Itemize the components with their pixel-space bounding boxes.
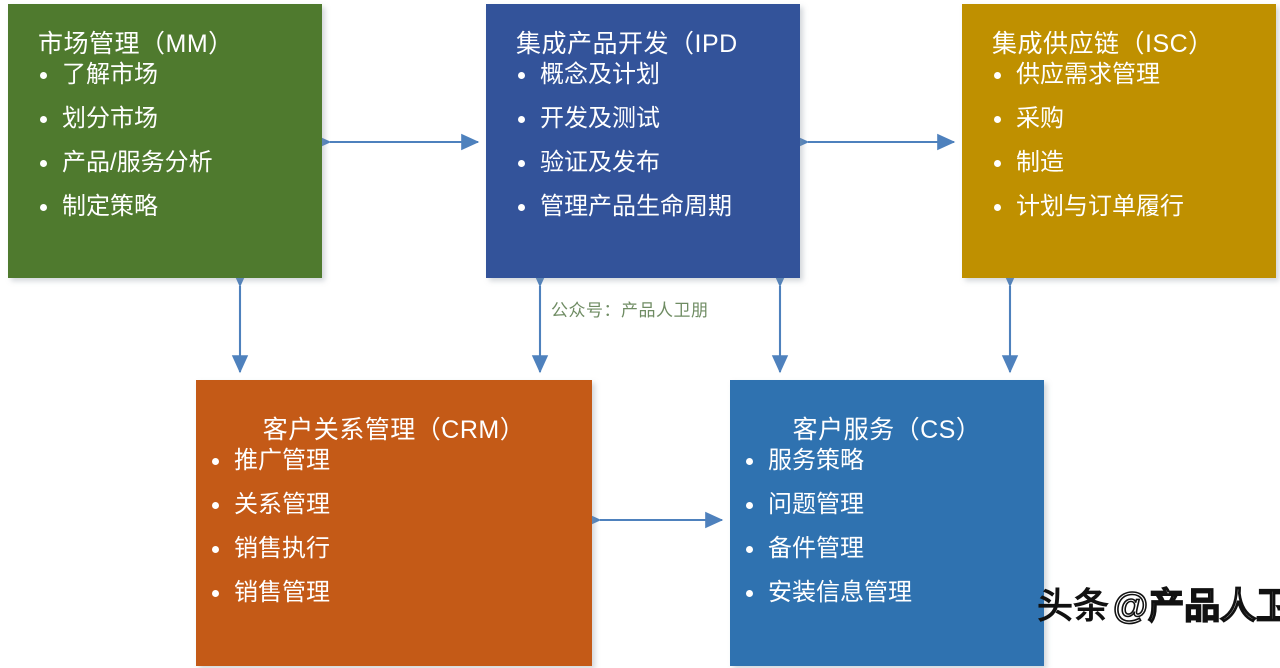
list-item: 问题管理 (740, 493, 1044, 517)
list-item: 服务策略 (740, 449, 1044, 473)
list-item: 产品/服务分析 (34, 151, 322, 175)
list-item: 管理产品生命周期 (512, 195, 800, 219)
watermark-center: 公众号：产品人卫朋 (551, 296, 709, 321)
list-item: 划分市场 (34, 107, 322, 131)
process-box-mm-items: 了解市场 划分市场 产品/服务分析 制定策略 (8, 63, 322, 219)
list-item: 概念及计划 (512, 63, 800, 87)
process-box-ipd-items: 概念及计划 开发及测试 验证及发布 管理产品生命周期 (486, 63, 800, 219)
list-item: 安装信息管理 (740, 581, 1044, 605)
process-box-ipd[interactable]: 集成产品开发（IPD 概念及计划 开发及测试 验证及发布 管理产品生命周期 (486, 4, 800, 278)
diagram-canvas: 市场管理（MM） 了解市场 划分市场 产品/服务分析 制定策略 集成产品开发（I… (0, 0, 1280, 668)
process-box-crm-title: 客户关系管理（CRM） (196, 380, 592, 449)
list-item: 计划与订单履行 (988, 195, 1276, 219)
watermark-platform-label: 头条 (1037, 585, 1109, 626)
process-box-ipd-title: 集成产品开发（IPD (486, 4, 800, 63)
watermark-handle-label: @产品人卫朋 (1113, 585, 1280, 626)
process-box-isc-title: 集成供应链（ISC） (962, 4, 1276, 63)
list-item: 销售执行 (206, 537, 592, 561)
list-item: 制定策略 (34, 195, 322, 219)
list-item: 验证及发布 (512, 151, 800, 175)
list-item: 采购 (988, 107, 1276, 131)
process-box-mm[interactable]: 市场管理（MM） 了解市场 划分市场 产品/服务分析 制定策略 (8, 4, 322, 278)
process-box-cs[interactable]: 客户服务（CS） 服务策略 问题管理 备件管理 安装信息管理 (730, 380, 1044, 666)
process-box-cs-title: 客户服务（CS） (730, 380, 1044, 449)
process-box-isc[interactable]: 集成供应链（ISC） 供应需求管理 采购 制造 计划与订单履行 (962, 4, 1276, 278)
process-box-mm-title: 市场管理（MM） (8, 4, 322, 63)
list-item: 关系管理 (206, 493, 592, 517)
process-box-crm[interactable]: 客户关系管理（CRM） 推广管理 关系管理 销售执行 销售管理 (196, 380, 592, 666)
list-item: 开发及测试 (512, 107, 800, 131)
list-item: 制造 (988, 151, 1276, 175)
list-item: 销售管理 (206, 581, 592, 605)
process-box-isc-items: 供应需求管理 采购 制造 计划与订单履行 (962, 63, 1276, 219)
list-item: 了解市场 (34, 63, 322, 87)
list-item: 备件管理 (740, 537, 1044, 561)
process-box-crm-items: 推广管理 关系管理 销售执行 销售管理 (196, 449, 592, 605)
list-item: 推广管理 (206, 449, 592, 473)
list-item: 供应需求管理 (988, 63, 1276, 87)
process-box-cs-items: 服务策略 问题管理 备件管理 安装信息管理 (730, 449, 1044, 605)
watermark-corner: 头条@产品人卫朋 (1037, 588, 1280, 624)
